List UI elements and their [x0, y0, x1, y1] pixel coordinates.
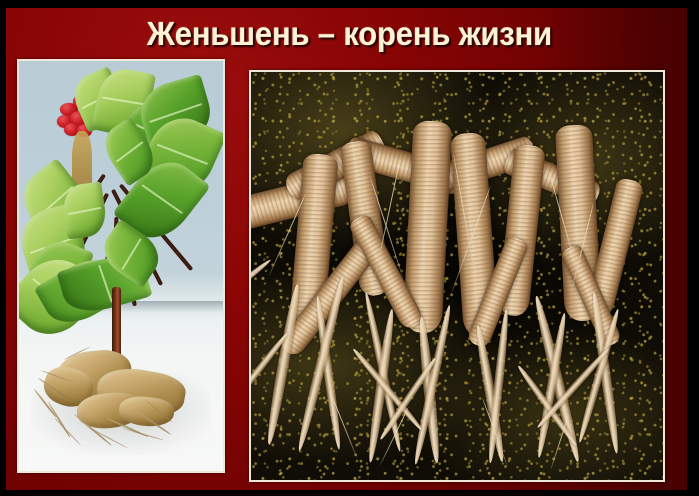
slide: Женьшень – корень жизни [0, 0, 699, 496]
frame-top [0, 0, 699, 8]
frame-right [687, 0, 699, 496]
rootlet [122, 428, 163, 441]
frame-left [0, 0, 6, 496]
thin-root [264, 283, 303, 446]
ginseng-root [31, 344, 194, 455]
rootlet [86, 426, 127, 448]
ginseng-roots-scene [251, 72, 663, 480]
page-title: Женьшень – корень жизни [21, 14, 678, 54]
rootlet [47, 402, 71, 439]
frame-bottom [0, 490, 699, 496]
ginseng-roots-photo [249, 70, 665, 482]
thin-root [251, 257, 273, 338]
ginseng-plant-photo [17, 59, 225, 473]
ginseng-plant-scene [19, 61, 223, 471]
rootlet [54, 417, 82, 446]
